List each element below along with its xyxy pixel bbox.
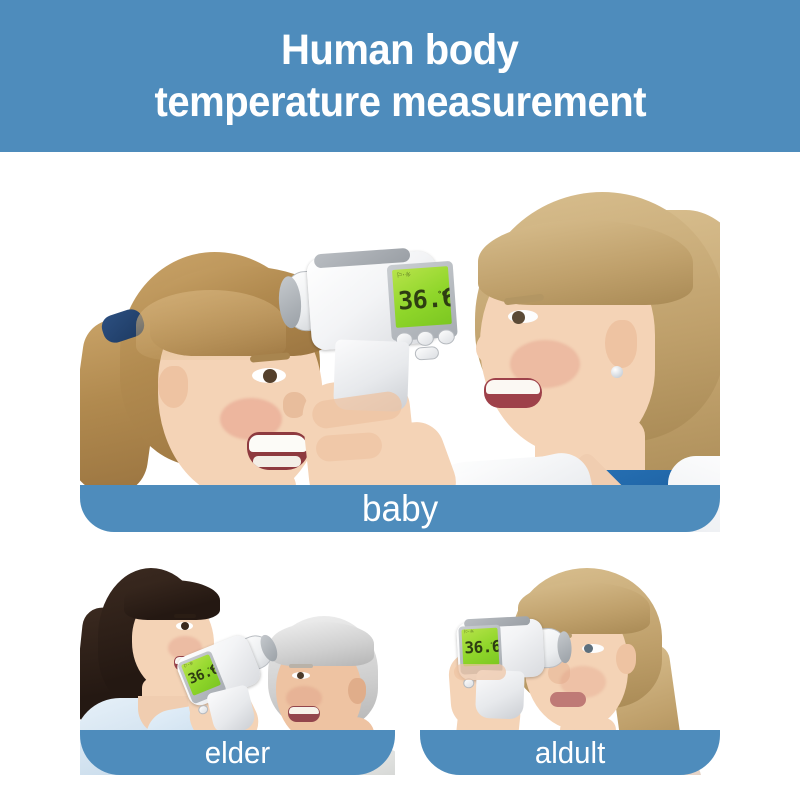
caregiver-eyebrow [174, 614, 196, 618]
panel-baby-caption-band: baby [80, 485, 720, 532]
doctor-hair-front [478, 220, 693, 305]
panel-elder-caption-band: elder [80, 730, 395, 775]
header-banner: Human body temperature measurement [0, 0, 800, 152]
thermometer-baby: ⚐·☼ 36.6 °C [280, 242, 481, 415]
doctor-earring [611, 366, 623, 378]
panel-elder-caption-text: elder [205, 737, 270, 768]
doctor-thumb [315, 432, 383, 463]
header-title-line-1: Human body [281, 29, 519, 72]
product-infographic-page: Human body temperature measurement [0, 0, 800, 800]
elder-eyebrow [289, 664, 313, 668]
elder-mouth [288, 706, 320, 722]
adult-ear [616, 644, 636, 674]
panel-aldult-caption-band: aldult [420, 730, 720, 775]
adult-fingers [454, 664, 506, 680]
child-iris [263, 369, 277, 383]
thermometer-button-center [416, 330, 434, 346]
panel-aldult-caption-text: aldult [535, 737, 605, 768]
doctor-mouth [484, 378, 542, 408]
panel-elder: ⚐·☼ 36.6 °C [80, 560, 395, 775]
child-mouth [247, 432, 309, 470]
elder-iris [297, 672, 304, 679]
doctor-ear [605, 320, 637, 368]
child-hair-strands [136, 290, 286, 360]
caregiver-iris [181, 622, 189, 630]
thermometer-lcd-icons: ⚐·☼ [463, 630, 474, 636]
thermometer-lcd: ⚐·☼ 36.6 °C [461, 628, 499, 667]
thermometer-aldult: ⚐·☼ 36.6 °C [445, 605, 576, 711]
child-ear [158, 366, 188, 408]
doctor-nose [476, 330, 510, 364]
thermometer-lcd-unit: °C [438, 290, 448, 299]
caregiver-hair-front [124, 580, 220, 620]
thermometer-lcd-icons: ⚐·☼ [396, 272, 411, 280]
doctor-iris [512, 311, 525, 324]
thermometer-lcd: ⚐·☼ 36.6 °C [392, 266, 452, 328]
elder-hair-front [270, 622, 374, 666]
panel-aldult: ⚐·☼ 36.6 °C aldult [420, 560, 720, 775]
panel-baby: ⚐·☼ 36.6 °C baby [80, 170, 720, 532]
panel-baby-photo: ⚐·☼ 36.6 °C [80, 170, 720, 532]
thermometer-button-mode [414, 346, 439, 361]
elder-ear [348, 678, 366, 704]
header-title-line-2: temperature measurement [154, 81, 646, 124]
thermometer-button-right [437, 329, 455, 345]
thermometer-lcd-unit: °C [490, 643, 496, 648]
panel-baby-caption-text: baby [362, 490, 438, 527]
adult-iris-right [584, 644, 593, 653]
